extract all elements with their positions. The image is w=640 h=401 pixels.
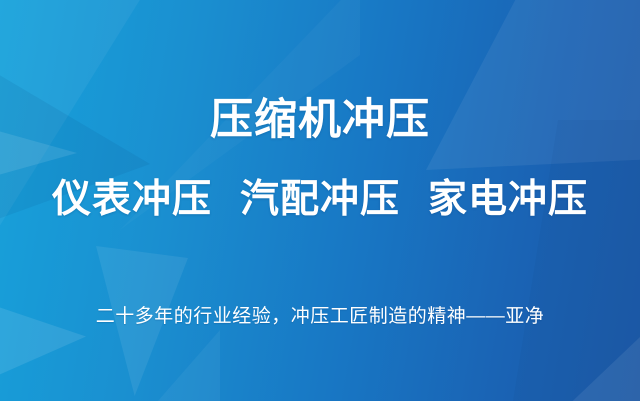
headline-secondary-segment-2: 汽配冲压 [240,178,400,221]
headline-primary: 压缩机冲压 [0,99,640,142]
promotional-banner: 压缩机冲压 仪表冲压汽配冲压家电冲压 二十多年的行业经验，冲压工匠制造的精神——… [0,0,640,401]
banner-content: 压缩机冲压 仪表冲压汽配冲压家电冲压 二十多年的行业经验，冲压工匠制造的精神——… [0,0,640,401]
tagline: 二十多年的行业经验，冲压工匠制造的精神——亚净 [0,306,640,329]
headline-secondary-segment-1: 仪表冲压 [52,178,212,221]
headline-secondary: 仪表冲压汽配冲压家电冲压 [0,180,640,219]
headline-secondary-segment-3: 家电冲压 [428,178,588,221]
